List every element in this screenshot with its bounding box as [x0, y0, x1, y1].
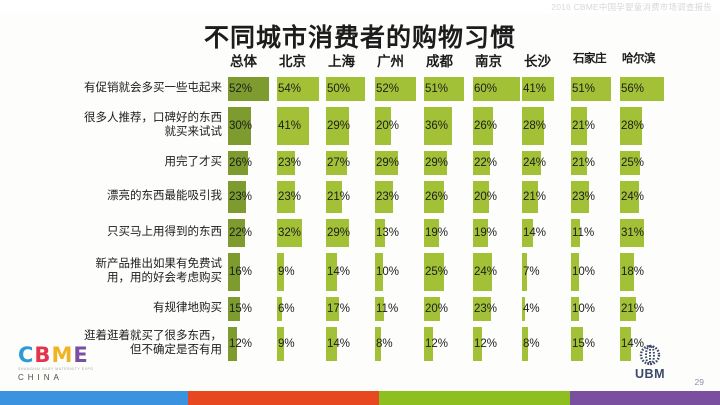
chart-row: 只买马上用得到的东西22%32%29%13%19%19%14%11%31% — [0, 216, 720, 250]
bar-wrapper: 7% — [522, 253, 571, 291]
bar-value-label: 10% — [572, 266, 595, 278]
chart-cell: 20% — [473, 178, 522, 213]
chart-cell: 21% — [571, 148, 620, 175]
chart-cell: 6% — [277, 294, 326, 321]
bar-wrapper: 51% — [571, 77, 620, 101]
bar-value-label: 15% — [572, 338, 595, 350]
chart-cell: 11% — [571, 216, 620, 247]
column-header-label: 石家庄 — [571, 50, 620, 66]
bar-wrapper: 12% — [473, 327, 522, 361]
bar-value-label: 9% — [278, 338, 295, 350]
column-header-label: 北京 — [277, 50, 326, 70]
bar-value-label: 21% — [523, 191, 546, 203]
bar-value-label: 20% — [474, 191, 497, 203]
bar-wrapper: 20% — [375, 107, 424, 145]
bar-value-label: 23% — [278, 191, 301, 203]
column-header-cell: 上海 — [326, 50, 375, 70]
column-header-cell: 石家庄 — [571, 50, 620, 66]
chart-cell: 31% — [620, 216, 669, 247]
bar-wrapper: 21% — [620, 297, 669, 321]
chart-cell: 21% — [571, 104, 620, 145]
bar-value-label: 8% — [523, 338, 540, 350]
bar-wrapper: 56% — [620, 77, 669, 101]
bar-value-label: 29% — [327, 120, 350, 132]
chart-cell: 56% — [620, 74, 669, 101]
bar-wrapper: 52% — [375, 77, 424, 101]
bar-wrapper: 24% — [620, 181, 669, 213]
chart-cell: 54% — [277, 74, 326, 101]
bar-wrapper: 29% — [326, 107, 375, 145]
bar-value-label: 50% — [327, 83, 350, 95]
chart-cell: 23% — [375, 178, 424, 213]
report-tag-label: 2016 CBME中国孕婴童消费市场调查报告 — [551, 1, 712, 13]
bar-wrapper: 25% — [424, 253, 473, 291]
bar-value-label: 28% — [523, 120, 546, 132]
bar-value-label: 12% — [229, 338, 252, 350]
bar-wrapper: 26% — [228, 151, 277, 175]
chart-cell: 23% — [277, 178, 326, 213]
chart-cell: 51% — [571, 74, 620, 101]
bar-wrapper: 23% — [473, 297, 522, 321]
bar-value-label: 10% — [572, 303, 595, 315]
bar-value-label: 26% — [425, 191, 448, 203]
bar-wrapper: 22% — [473, 151, 522, 175]
bar-wrapper: 20% — [473, 181, 522, 213]
bar-value-label: 21% — [572, 120, 595, 132]
cbme-country-label: CHINA — [18, 373, 118, 382]
bar-value-label: 6% — [278, 303, 295, 315]
column-header-label: 长沙 — [522, 50, 571, 70]
column-header-label: 哈尔滨 — [620, 50, 669, 66]
chart-cell: 23% — [277, 148, 326, 175]
chart-cell: 41% — [277, 104, 326, 145]
column-header-label: 南京 — [473, 50, 522, 70]
bar-value-label: 23% — [229, 191, 252, 203]
chart-cell: 10% — [375, 250, 424, 291]
chart-cell: 24% — [620, 178, 669, 213]
bar-value-label: 4% — [523, 303, 540, 315]
bar-wrapper: 16% — [228, 253, 277, 291]
column-header-cell: 北京 — [277, 50, 326, 70]
bar-value-label: 23% — [278, 157, 301, 169]
bar-wrapper: 9% — [277, 253, 326, 291]
bar-value-label: 26% — [229, 157, 252, 169]
chart-cell: 50% — [326, 74, 375, 101]
ubm-label: UBM — [622, 367, 678, 381]
bar-wrapper: 21% — [326, 181, 375, 213]
chart-cell: 21% — [326, 178, 375, 213]
cbme-letter-b: B — [34, 345, 50, 365]
bar-value-label: 11% — [572, 227, 594, 239]
bar-value-label: 29% — [327, 227, 350, 239]
chart-cell: 26% — [424, 178, 473, 213]
page-number: 29 — [695, 377, 704, 387]
row-label: 新产品推出如果有免费试用，用的好会考虑购买 — [0, 250, 228, 286]
chart-cell: 29% — [375, 148, 424, 175]
bar-value-label: 21% — [327, 191, 350, 203]
bar-value-label: 31% — [621, 227, 644, 239]
bar-wrapper: 23% — [228, 181, 277, 213]
chart-cell: 24% — [473, 250, 522, 291]
chart-cell: 7% — [522, 250, 571, 291]
band-segment — [379, 391, 570, 405]
bar-wrapper: 22% — [228, 219, 277, 247]
column-header-cell: 总体 — [228, 50, 277, 70]
chart-cell: 4% — [522, 294, 571, 321]
chart-row: 新产品推出如果有免费试用，用的好会考虑购买16%9%14%10%25%24%7%… — [0, 250, 720, 294]
bar-value-label: 18% — [621, 266, 644, 278]
bar-value-label: 14% — [621, 338, 644, 350]
bar-value-label: 7% — [523, 266, 540, 278]
bottom-color-band — [0, 391, 720, 405]
chart-cell: 9% — [277, 324, 326, 361]
bar-wrapper: 41% — [277, 107, 326, 145]
bar-value-label: 25% — [425, 266, 448, 278]
bar-wrapper: 28% — [620, 107, 669, 145]
chart-cell: 25% — [424, 250, 473, 291]
column-header-label: 上海 — [326, 50, 375, 70]
row-label: 只买马上用得到的东西 — [0, 216, 228, 239]
bar-wrapper: 60% — [473, 77, 522, 101]
chart-cell: 28% — [522, 104, 571, 145]
cbme-letters: C B M E — [18, 343, 118, 365]
bar-wrapper: 12% — [228, 327, 277, 361]
bar-value-label: 52% — [229, 83, 252, 95]
chart-row: 很多人推荐，口碑好的东西就买来试试30%41%29%20%36%26%28%21… — [0, 104, 720, 148]
bar-wrapper: 8% — [375, 327, 424, 361]
bar-value-label: 27% — [327, 157, 350, 169]
chart-cell: 52% — [375, 74, 424, 101]
bar-value-label: 30% — [229, 120, 252, 132]
bar-wrapper: 23% — [277, 181, 326, 213]
bar-value-label: 21% — [572, 157, 595, 169]
bar-wrapper: 26% — [424, 181, 473, 213]
chart-cell: 29% — [424, 148, 473, 175]
column-header-label: 总体 — [228, 50, 277, 70]
bar-wrapper: 24% — [473, 253, 522, 291]
bar-value-label: 51% — [572, 83, 595, 95]
bar-value-label: 20% — [425, 303, 448, 315]
bar-wrapper: 36% — [424, 107, 473, 145]
bar-wrapper: 14% — [522, 219, 571, 247]
chart-cell: 29% — [326, 104, 375, 145]
bar-value-label: 24% — [474, 266, 497, 278]
bar-value-label: 22% — [474, 157, 497, 169]
band-segment — [188, 391, 379, 405]
chart-row: 有规律地购买15%6%17%11%20%23%4%10%21% — [0, 294, 720, 324]
bar-value-label: 12% — [474, 338, 497, 350]
bar-value-label: 41% — [523, 83, 546, 95]
bar-wrapper: 17% — [326, 297, 375, 321]
bar-wrapper: 19% — [424, 219, 473, 247]
chart-cell: 17% — [326, 294, 375, 321]
chart-cell: 52% — [228, 74, 277, 101]
bar-wrapper: 11% — [571, 219, 620, 247]
bar-value-label: 29% — [425, 157, 448, 169]
band-segment — [570, 391, 720, 405]
cbme-letter-m: M — [51, 345, 72, 365]
bar-wrapper: 27% — [326, 151, 375, 175]
bar-wrapper: 6% — [277, 297, 326, 321]
chart-cell: 22% — [473, 148, 522, 175]
bar-wrapper: 14% — [326, 253, 375, 291]
chart-cell: 12% — [228, 324, 277, 361]
bar-value-label: 24% — [621, 191, 644, 203]
chart-cell: 36% — [424, 104, 473, 145]
chart-cell: 28% — [620, 104, 669, 145]
bar-value-label: 22% — [229, 227, 252, 239]
chart-cell: 20% — [424, 294, 473, 321]
chart-cell: 24% — [522, 148, 571, 175]
bar-wrapper: 8% — [522, 327, 571, 361]
bar-wrapper: 23% — [571, 181, 620, 213]
chart-cell: 25% — [620, 148, 669, 175]
column-header-cell: 哈尔滨 — [620, 50, 669, 66]
chart-cell: 27% — [326, 148, 375, 175]
chart-cell: 12% — [424, 324, 473, 361]
header-spacer — [0, 50, 228, 72]
chart-cell: 15% — [228, 294, 277, 321]
chart-cell: 23% — [571, 178, 620, 213]
cbme-letter-e: E — [73, 345, 87, 365]
bar-wrapper: 23% — [277, 151, 326, 175]
chart-cell: 14% — [326, 324, 375, 361]
bar-value-label: 60% — [474, 83, 497, 95]
chart-cell: 10% — [571, 250, 620, 291]
chart-cell: 18% — [620, 250, 669, 291]
bar-value-label: 36% — [425, 120, 448, 132]
chart-cell: 26% — [228, 148, 277, 175]
bar-wrapper: 4% — [522, 297, 571, 321]
bar-value-label: 21% — [621, 303, 644, 315]
row-label: 很多人推荐，口碑好的东西就买来试试 — [0, 104, 228, 140]
cbme-subtitle: SHANGHAI BABY MATERNITY EXPO — [18, 367, 118, 371]
bar-wrapper: 12% — [424, 327, 473, 361]
chart-cell: 51% — [424, 74, 473, 101]
bar-wrapper: 54% — [277, 77, 326, 101]
chart-cell: 19% — [473, 216, 522, 247]
bar-value-label: 12% — [425, 338, 448, 350]
bar-value-label: 20% — [376, 120, 399, 132]
bar-value-label: 23% — [572, 191, 595, 203]
bar-wrapper: 28% — [522, 107, 571, 145]
bar-wrapper: 20% — [424, 297, 473, 321]
chart-cell: 29% — [326, 216, 375, 247]
bar-wrapper: 32% — [277, 219, 326, 247]
bar-wrapper: 23% — [375, 181, 424, 213]
bar-wrapper: 52% — [228, 77, 277, 101]
bar-value-label: 24% — [523, 157, 546, 169]
bar-wrapper: 13% — [375, 219, 424, 247]
chart-cell: 12% — [473, 324, 522, 361]
chart-cell: 15% — [571, 324, 620, 361]
chart-cell: 60% — [473, 74, 522, 101]
chart-cell: 20% — [375, 104, 424, 145]
bar-wrapper: 10% — [375, 253, 424, 291]
bar-wrapper: 26% — [473, 107, 522, 145]
bar-wrapper: 24% — [522, 151, 571, 175]
chart-row: 漂亮的东西最能吸引我23%23%21%23%26%20%21%23%24% — [0, 178, 720, 216]
bar-value-label: 32% — [278, 227, 301, 239]
column-header-label: 广州 — [375, 50, 424, 70]
chart-cell: 30% — [228, 104, 277, 145]
column-header-cell: 广州 — [375, 50, 424, 70]
row-label: 有促销就会多买一些屯起来 — [0, 74, 228, 95]
bar-value-label: 56% — [621, 83, 644, 95]
bar-value-label: 26% — [474, 120, 497, 132]
bar-value-label: 29% — [376, 157, 399, 169]
bar-value-label: 54% — [278, 83, 301, 95]
bar-value-label: 14% — [523, 227, 546, 239]
bar-value-label: 15% — [229, 303, 252, 315]
bar-wrapper: 21% — [571, 107, 620, 145]
chart-cell: 14% — [326, 250, 375, 291]
column-header-cell: 成都 — [424, 50, 473, 70]
chart-cell: 10% — [571, 294, 620, 321]
top-header-strip: 2016 CBME中国孕婴童消费市场调查报告 — [0, 0, 720, 13]
bar-wrapper: 19% — [473, 219, 522, 247]
cbme-logo: C B M E SHANGHAI BABY MATERNITY EXPO CHI… — [18, 343, 118, 385]
bar-value-label: 19% — [474, 227, 497, 239]
bar-wrapper: 9% — [277, 327, 326, 361]
chart-row: 有促销就会多买一些屯起来52%54%50%52%51%60%41%51%56% — [0, 74, 720, 104]
bar-wrapper: 10% — [571, 253, 620, 291]
chart-cell: 13% — [375, 216, 424, 247]
bar-wrapper: 11% — [375, 297, 424, 321]
bar-value-label: 52% — [376, 83, 399, 95]
chart-cell: 21% — [620, 294, 669, 321]
bar-wrapper: 14% — [326, 327, 375, 361]
shopping-habits-chart: 总体 北京 上海 广州 成都 南京 长沙 石家庄 哈尔滨 有促销就会多买一些屯起… — [0, 50, 720, 370]
chart-cell: 23% — [473, 294, 522, 321]
chart-row: 用完了才买26%23%27%29%29%22%24%21%25% — [0, 148, 720, 178]
bar-wrapper: 31% — [620, 219, 669, 247]
bar-wrapper: 10% — [571, 297, 620, 321]
bar-value-label: 14% — [327, 338, 350, 350]
page-title: 不同城市消费者的购物习惯 — [0, 18, 720, 54]
cbme-letter-c: C — [18, 345, 33, 365]
bar-wrapper: 41% — [522, 77, 571, 101]
chart-cell: 22% — [228, 216, 277, 247]
bar-value-label: 25% — [621, 157, 644, 169]
chart-cell: 32% — [277, 216, 326, 247]
chart-cell: 26% — [473, 104, 522, 145]
bar-value-label: 8% — [376, 338, 393, 350]
bar-value-label: 28% — [621, 120, 644, 132]
row-label: 有规律地购买 — [0, 294, 228, 315]
bar-value-label: 10% — [376, 266, 399, 278]
bar-wrapper: 29% — [424, 151, 473, 175]
bar-value-label: 13% — [376, 227, 399, 239]
chart-cell: 16% — [228, 250, 277, 291]
bar-value-label: 41% — [278, 120, 301, 132]
chart-cell: 9% — [277, 250, 326, 291]
chart-cell: 14% — [522, 216, 571, 247]
column-header-row: 总体 北京 上海 广州 成都 南京 长沙 石家庄 哈尔滨 — [0, 50, 720, 74]
band-segment — [0, 391, 188, 405]
bar-value-label: 9% — [278, 266, 295, 278]
bar-wrapper: 51% — [424, 77, 473, 101]
bar-wrapper: 21% — [571, 151, 620, 175]
bar-value-label: 11% — [376, 303, 398, 315]
column-header-cell: 长沙 — [522, 50, 571, 70]
chart-cell: 23% — [228, 178, 277, 213]
bar-wrapper: 15% — [571, 327, 620, 361]
bar-value-label: 51% — [425, 83, 448, 95]
bar-wrapper: 15% — [228, 297, 277, 321]
row-label: 用完了才买 — [0, 148, 228, 169]
bar-wrapper: 29% — [326, 219, 375, 247]
column-header-label: 成都 — [424, 50, 473, 70]
row-label: 漂亮的东西最能吸引我 — [0, 178, 228, 203]
bar-value-label: 19% — [425, 227, 448, 239]
chart-cell: 41% — [522, 74, 571, 101]
bar-wrapper: 25% — [620, 151, 669, 175]
bar-value-label: 16% — [229, 266, 252, 278]
bar-wrapper: 18% — [620, 253, 669, 291]
chart-cell: 8% — [375, 324, 424, 361]
chart-cell: 21% — [522, 178, 571, 213]
bar-wrapper: 30% — [228, 107, 277, 145]
chart-cell: 19% — [424, 216, 473, 247]
bar-value-label: 23% — [376, 191, 399, 203]
chart-cell: 8% — [522, 324, 571, 361]
chart-cell: 11% — [375, 294, 424, 321]
bar-value-label: 17% — [327, 303, 350, 315]
bar-wrapper: 50% — [326, 77, 375, 101]
bar-value-label: 14% — [327, 266, 350, 278]
bar-wrapper: 29% — [375, 151, 424, 175]
bar-wrapper: 21% — [522, 181, 571, 213]
bar-value-label: 23% — [474, 303, 497, 315]
column-header-cell: 南京 — [473, 50, 522, 70]
